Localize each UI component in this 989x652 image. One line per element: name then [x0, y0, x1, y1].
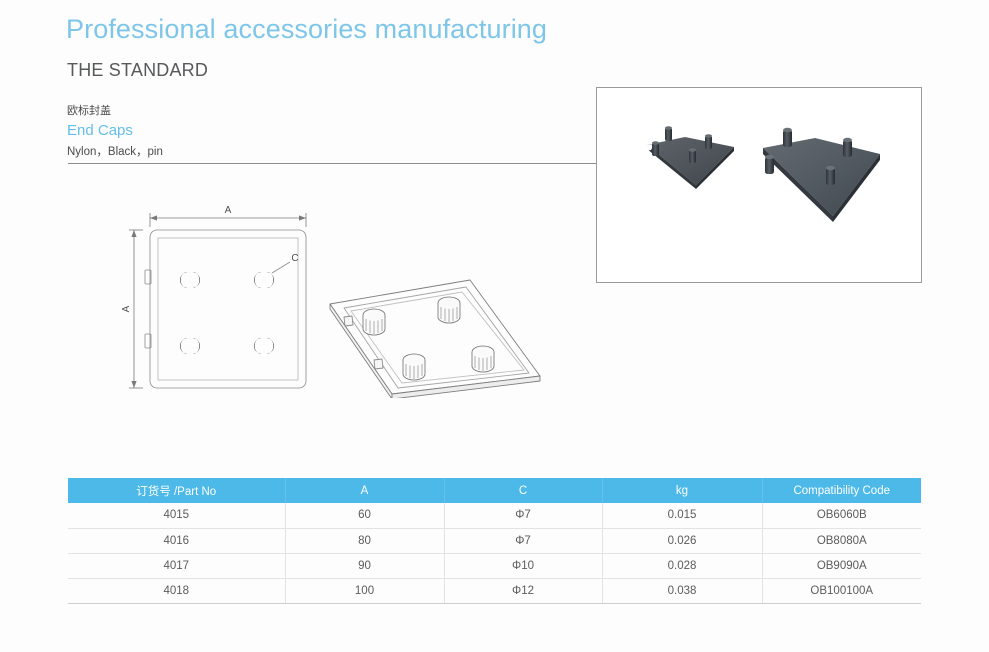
cell-a: 80 [285, 528, 444, 553]
datasheet-page: Professional accessories manufacturing T… [0, 0, 989, 652]
cell-c: Φ7 [444, 528, 602, 553]
end-cap-isometric-view [322, 268, 547, 403]
cell-compat: OB6060B [762, 503, 921, 528]
product-name-en: End Caps [67, 122, 133, 139]
table-header-row: 订货号 /Part No A C kg Compatibility Code [68, 478, 921, 503]
cell-c: Φ7 [444, 503, 602, 528]
cell-part-no: 4017 [68, 553, 285, 578]
table-row: 4015 60 Φ7 0.015 OB6060B [68, 503, 921, 528]
table-row: 4017 90 Φ10 0.028 OB9090A [68, 553, 921, 578]
cell-kg: 0.028 [602, 553, 762, 578]
end-caps-product-photo [597, 88, 921, 282]
column-header-c: C [444, 478, 602, 503]
cell-a: 90 [285, 553, 444, 578]
page-subtitle: THE STANDARD [67, 60, 208, 81]
product-material: Nylon，Black，pin [67, 143, 163, 159]
column-header-part-no: 订货号 /Part No [68, 478, 285, 503]
cell-compat: OB8080A [762, 528, 921, 553]
cell-compat: OB9090A [762, 553, 921, 578]
page-title: Professional accessories manufacturing [66, 14, 547, 45]
end-cap-top-view: A A C [112, 200, 322, 400]
cell-compat: OB100100A [762, 578, 921, 603]
cell-kg: 0.026 [602, 528, 762, 553]
cell-a: 60 [285, 503, 444, 528]
product-name-cn: 欧标封盖 [67, 102, 111, 118]
cell-kg: 0.038 [602, 578, 762, 603]
cell-c: Φ10 [444, 553, 602, 578]
cell-c: Φ12 [444, 578, 602, 603]
dimension-label-left: A [121, 305, 132, 312]
callout-label-c: C [291, 253, 298, 264]
column-header-kg: kg [602, 478, 762, 503]
dimension-label-top: A [225, 205, 232, 216]
specification-table: 订货号 /Part No A C kg Compatibility Code 4… [68, 478, 921, 604]
cell-kg: 0.015 [602, 503, 762, 528]
cell-part-no: 4018 [68, 578, 285, 603]
header-divider [68, 163, 596, 164]
table-row: 4018 100 Φ12 0.038 OB100100A [68, 578, 921, 603]
column-header-a: A [285, 478, 444, 503]
column-header-compat: Compatibility Code [762, 478, 921, 503]
product-photo-panel [596, 87, 922, 283]
table-row: 4016 80 Φ7 0.026 OB8080A [68, 528, 921, 553]
cell-part-no: 4016 [68, 528, 285, 553]
cell-part-no: 4015 [68, 503, 285, 528]
cell-a: 100 [285, 578, 444, 603]
